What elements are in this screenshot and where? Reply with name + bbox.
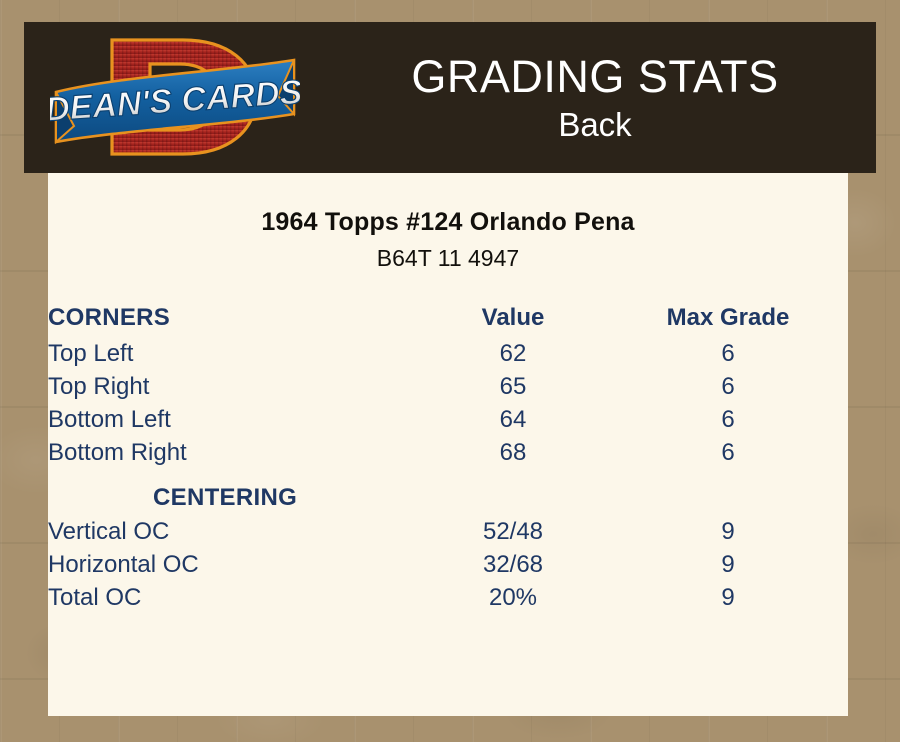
row-value: 64 xyxy=(418,404,608,437)
row-value: 65 xyxy=(418,371,608,404)
row-max-grade: 9 xyxy=(608,582,848,615)
table-row: Vertical OC 52/48 9 xyxy=(48,516,848,549)
column-header-value: Value xyxy=(418,304,608,338)
row-max-grade: 6 xyxy=(608,338,848,371)
table-row: Horizontal OC 32/68 9 xyxy=(48,549,848,582)
table-row: Bottom Left 64 6 xyxy=(48,404,848,437)
row-max-grade: 6 xyxy=(608,437,848,470)
row-label: Bottom Left xyxy=(48,404,418,437)
table-row: Top Right 65 6 xyxy=(48,371,848,404)
deans-cards-logo[interactable]: DEAN'S CARDS xyxy=(50,30,300,164)
row-label: Vertical OC xyxy=(48,516,418,549)
row-max-grade: 9 xyxy=(608,516,848,549)
corners-header-row: CORNERS Value Max Grade xyxy=(48,304,848,338)
table-row: Top Left 62 6 xyxy=(48,338,848,371)
grading-stats-page: DEAN'S CARDS GRADING STATS Back 1964 Top… xyxy=(0,0,900,742)
section-title-corners: CORNERS xyxy=(48,304,418,338)
centering-header-row: CENTERING xyxy=(48,470,848,516)
row-value: 68 xyxy=(418,437,608,470)
row-value: 62 xyxy=(418,338,608,371)
spacer-cell xyxy=(418,470,608,516)
table-row: Bottom Right 68 6 xyxy=(48,437,848,470)
row-label: Top Left xyxy=(48,338,418,371)
header-title-group: GRADING STATS Back xyxy=(314,22,876,173)
row-value: 52/48 xyxy=(418,516,608,549)
row-label: Top Right xyxy=(48,371,418,404)
header-bar: DEAN'S CARDS GRADING STATS Back xyxy=(24,22,876,173)
column-header-max-grade: Max Grade xyxy=(608,304,848,338)
row-max-grade: 6 xyxy=(608,371,848,404)
row-label: Horizontal OC xyxy=(48,549,418,582)
grading-stats-table: CORNERS Value Max Grade Top Left 62 6 To… xyxy=(48,304,848,615)
row-max-grade: 6 xyxy=(608,404,848,437)
page-title: GRADING STATS xyxy=(411,51,778,103)
row-label: Total OC xyxy=(48,582,418,615)
row-value: 20% xyxy=(418,582,608,615)
row-label: Bottom Right xyxy=(48,437,418,470)
section-title-centering: CENTERING xyxy=(48,470,418,516)
page-subtitle: Back xyxy=(558,105,631,145)
table-row: Total OC 20% 9 xyxy=(48,582,848,615)
stats-table: CORNERS Value Max Grade Top Left 62 6 To… xyxy=(48,304,848,615)
spacer-cell xyxy=(608,470,848,516)
content-panel: 1964 Topps #124 Orlando Pena B64T 11 494… xyxy=(48,173,848,716)
card-title: 1964 Topps #124 Orlando Pena xyxy=(48,208,848,237)
card-code: B64T 11 4947 xyxy=(48,245,848,272)
row-value: 32/68 xyxy=(418,549,608,582)
row-max-grade: 9 xyxy=(608,549,848,582)
